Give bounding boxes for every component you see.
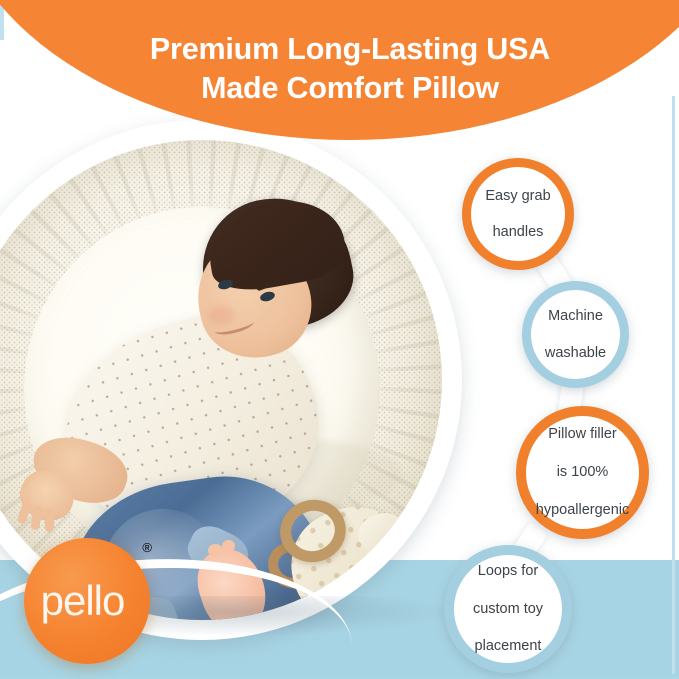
feature-badge-machine-washable[interactable]: Machine washable [522, 281, 629, 388]
badge-line-3: placement [467, 637, 549, 656]
badge-line-2: custom toy [467, 600, 549, 619]
feature-badge-easy-grab-handles[interactable]: Easy grab handles [462, 158, 574, 270]
header-banner: Premium Long-Lasting USA Made Comfort Pi… [0, 0, 679, 140]
baby-finger [45, 508, 55, 532]
feature-badge-hypoallergenic-filler[interactable]: Pillow filler is 100% hypoallergenic [516, 406, 649, 539]
badge-line-1: Machine [539, 307, 612, 325]
brand-logo[interactable]: pello ® [24, 538, 150, 664]
badge-line-1: Easy grab [479, 187, 556, 205]
badge-line-2: washable [539, 344, 612, 362]
page-title-line-2: Made Comfort Pillow [201, 71, 499, 105]
frame-edge-right [672, 96, 675, 674]
badge-line-1: Pillow filler [530, 425, 636, 444]
page-title: Premium Long-Lasting USA Made Comfort Pi… [0, 30, 679, 108]
baby-toe [208, 544, 223, 557]
page-title-line-1: Premium Long-Lasting USA [150, 32, 550, 66]
feature-badge-label: Machine washable [533, 307, 618, 361]
badge-line-2: handles [479, 223, 556, 241]
brand-logo-text: pello [41, 580, 134, 622]
feature-badge-label: Pillow filler is 100% hypoallergenic [524, 425, 642, 519]
badge-line-2: is 100% [530, 463, 636, 482]
baby-toe [222, 540, 235, 552]
badge-line-3: hypoallergenic [530, 501, 636, 520]
product-infographic: Premium Long-Lasting USA Made Comfort Pi… [0, 0, 679, 679]
feature-badge-label: Loops for custom toy placement [461, 562, 555, 656]
badge-line-1: Loops for [467, 562, 549, 581]
feature-badge-toy-loops[interactable]: Loops for custom toy placement [444, 545, 572, 673]
feature-badge-label: Easy grab handles [473, 187, 562, 241]
registered-trademark-symbol: ® [142, 540, 152, 555]
